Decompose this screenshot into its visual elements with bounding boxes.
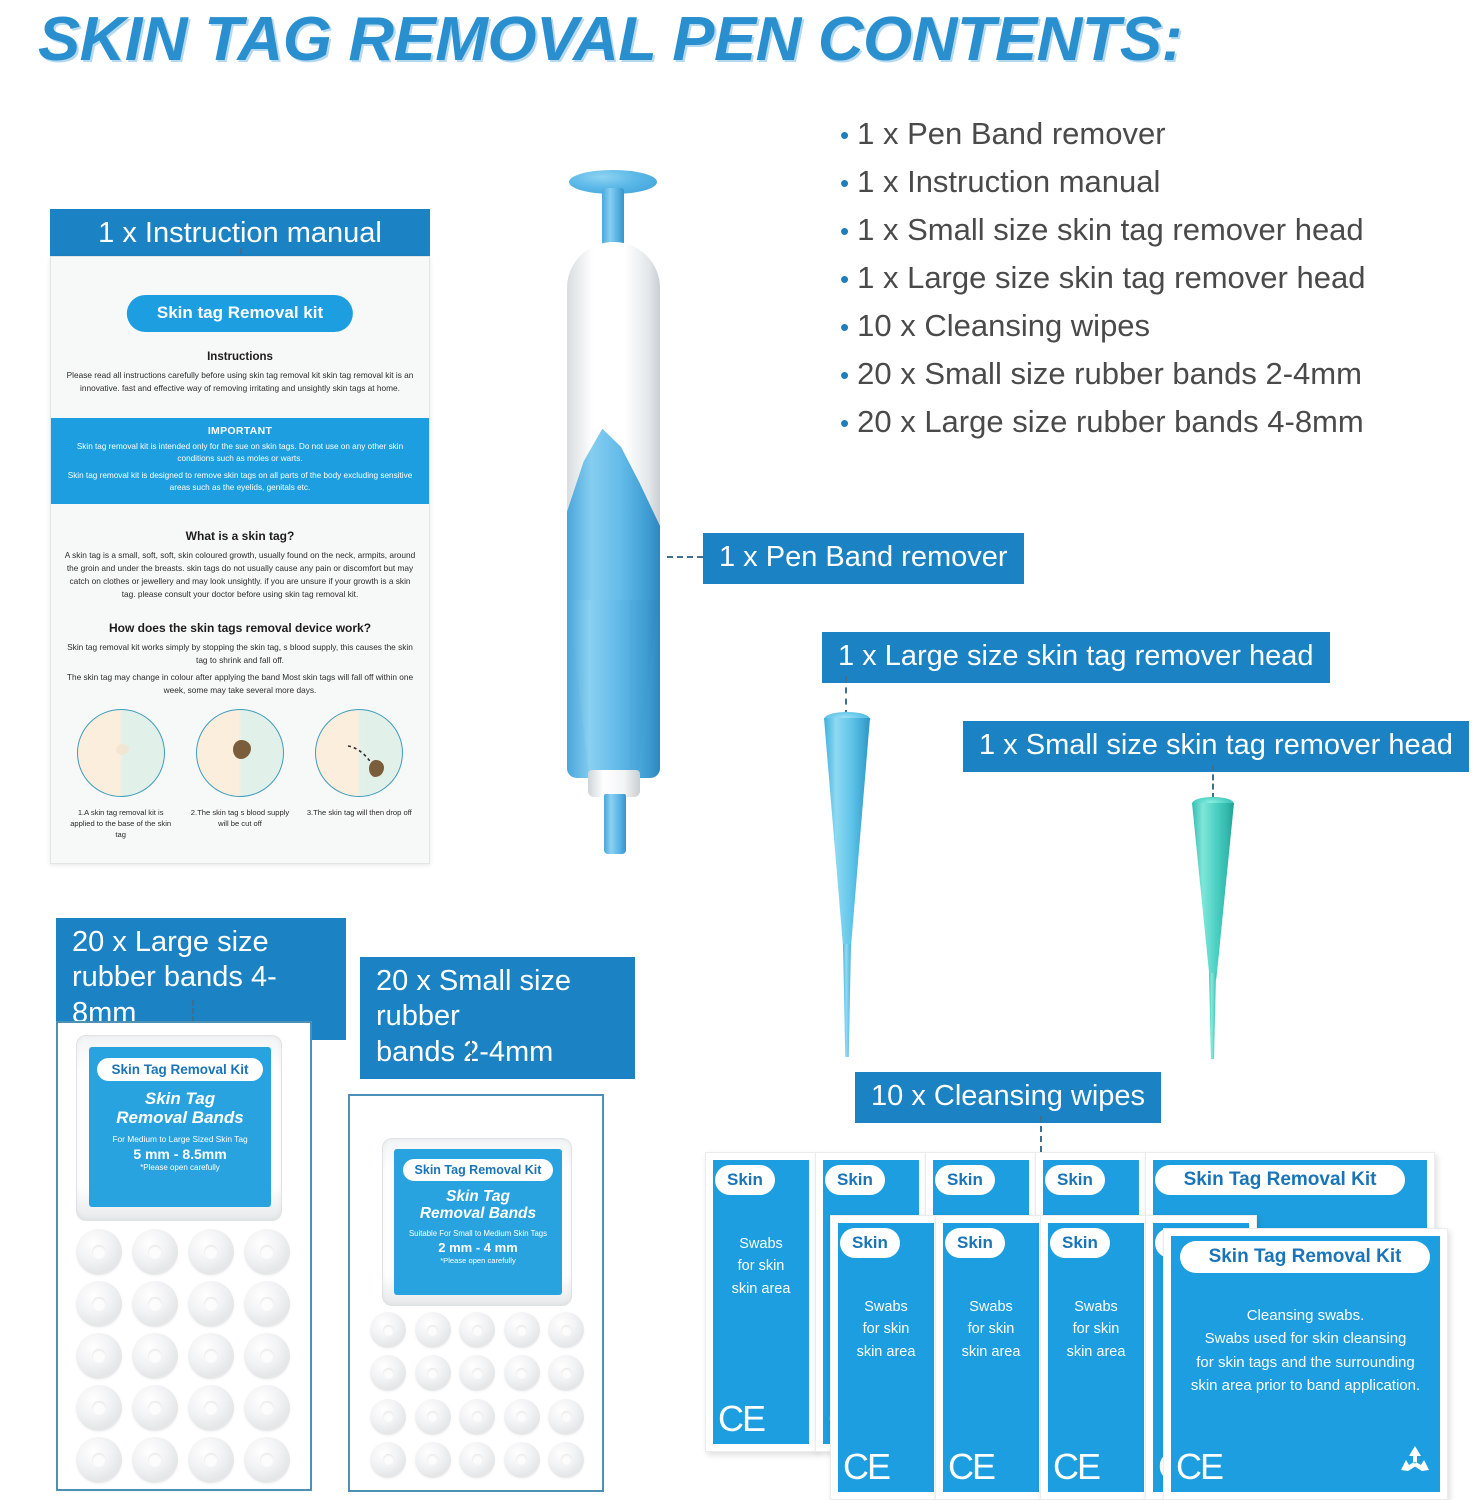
wipe-pill: Skin Tag Removal Kit (1180, 1241, 1430, 1273)
rubber-band-ring (370, 1399, 406, 1435)
wipe-packet: Skin Swabs for skin skin area CE (1040, 1215, 1152, 1500)
step-1: 1.A skin tag removal kit is applied to t… (67, 709, 175, 840)
large-bands-grid (76, 1229, 294, 1481)
leader-line (192, 1000, 194, 1022)
rubber-band-ring (459, 1399, 495, 1435)
rubber-band-hole (561, 1368, 572, 1379)
rubber-band-ring (459, 1355, 495, 1391)
page-title: SKIN TAG REMOVAL PEN CONTENTS: (38, 4, 1182, 75)
large-bands-brand-2: Removal Bands (89, 1108, 271, 1127)
list-item: •20 x Small size rubber bands 2-4mm (840, 358, 1472, 389)
list-item-label: 20 x Large size rubber bands 4-8mm (857, 406, 1364, 437)
manual-what-heading: What is a skin tag? (51, 529, 429, 543)
wipe-text: Swabs for skin skin area (839, 1296, 933, 1363)
wipe-pill: Skin (935, 1165, 995, 1195)
list-item-label: 1 x Instruction manual (857, 166, 1160, 197)
rubber-band-ring (188, 1333, 234, 1379)
rubber-band-hole (516, 1411, 527, 1422)
step-3: 3.The skin tag will then drop off (305, 709, 413, 840)
bullet-dot-icon: • (840, 122, 849, 148)
large-bands-suitability: For Medium to Large Sized Skin Tag (89, 1134, 271, 1144)
wipe-line-1: Cleansing swabs. (1172, 1304, 1439, 1327)
rubber-band-ring (415, 1399, 451, 1435)
small-head-needle (1209, 973, 1216, 1059)
small-head-cone (1192, 803, 1234, 979)
rubber-band-ring (504, 1442, 540, 1478)
rubber-band-hole (516, 1454, 527, 1465)
rubber-band-hole (561, 1411, 572, 1422)
large-bands-brand-1: Skin Tag (89, 1089, 271, 1108)
rubber-band-hole (148, 1401, 162, 1415)
rubber-band-ring (188, 1229, 234, 1275)
wipe-pill: Skin (1045, 1165, 1105, 1195)
rubber-band-ring (188, 1437, 234, 1483)
rubber-band-ring (415, 1442, 451, 1478)
list-item-label: 10 x Cleansing wipes (857, 310, 1150, 341)
rubber-band-ring (504, 1312, 540, 1348)
rubber-band-hole (260, 1245, 274, 1259)
rubber-band-hole (383, 1411, 394, 1422)
rubber-band-hole (92, 1245, 106, 1259)
rubber-band-hole (383, 1325, 394, 1336)
wipe-line-2: for skin (944, 1318, 1038, 1340)
small-bands-suitability: Suitable For Small to Medium Skin Tags (394, 1229, 562, 1238)
small-remover-head (1190, 797, 1236, 1059)
callout-large-remover-head: 1 x Large size skin tag remover head (822, 632, 1330, 683)
rubber-band-hole (472, 1325, 483, 1336)
wipe-line-1: Swabs (714, 1233, 808, 1255)
large-bands-note: *Please open carefully (89, 1163, 271, 1172)
rubber-band-ring (76, 1281, 122, 1327)
list-item-label: 1 x Pen Band remover (857, 118, 1165, 149)
ce-mark-icon: CE (1176, 1449, 1222, 1485)
wipe-line-3: for skin tags and the surrounding (1172, 1351, 1439, 1374)
step-caption: 1.A skin tag removal kit is applied to t… (67, 807, 175, 840)
small-bands-grid (370, 1312, 588, 1480)
skin-tag-dropoff-icon (315, 709, 403, 797)
bullet-dot-icon: • (840, 266, 849, 292)
rubber-band-hole (427, 1454, 438, 1465)
rubber-band-ring (504, 1399, 540, 1435)
manual-important-p2: Skin tag removal kit is designed to remo… (65, 470, 415, 495)
wipe-pill: Skin Tag Removal Kit (1155, 1165, 1405, 1195)
manual-how-p2: The skin tag may change in colour after … (61, 671, 419, 697)
wipe-line-1: Swabs (1049, 1296, 1143, 1318)
list-item: •10 x Cleansing wipes (840, 310, 1472, 341)
rubber-band-ring (504, 1355, 540, 1391)
bullet-dot-icon: • (840, 362, 849, 388)
rubber-band-hole (260, 1297, 274, 1311)
instruction-manual-sheet: Skin tag Removal kit Instructions Please… (50, 256, 430, 864)
rubber-band-hole (204, 1453, 218, 1467)
bullet-dot-icon: • (840, 410, 849, 436)
large-bands-size: 5 mm - 8.5mm (89, 1146, 271, 1162)
dropoff-path-icon (316, 710, 403, 797)
rubber-band-hole (204, 1401, 218, 1415)
wipe-packet: Skin Swabs for skin skin area CE (830, 1215, 942, 1500)
ce-mark-icon: CE (1053, 1449, 1099, 1485)
pen-nozzle (604, 794, 626, 854)
wipe-line-2: Swabs used for skin cleansing (1172, 1327, 1439, 1350)
wipe-line-4: skin area prior to band application. (1172, 1374, 1439, 1397)
ce-mark-icon: CE (843, 1449, 889, 1485)
manual-important-heading: IMPORTANT (65, 425, 415, 437)
pen-plunger-rod (602, 188, 624, 248)
list-item-label: 1 x Small size skin tag remover head (857, 214, 1364, 245)
wipe-line-2: for skin (839, 1318, 933, 1340)
small-bands-brand-1: Skin Tag (394, 1188, 562, 1205)
manual-instructions-heading: Instructions (51, 351, 429, 363)
rubber-band-hole (260, 1349, 274, 1363)
skin-tag-blood-icon (196, 709, 284, 797)
wipe-packet: Skin Swabs for skin skin area CE (935, 1215, 1047, 1500)
leader-line (845, 676, 847, 716)
wipe-text: Swabs for skin skin area (944, 1296, 1038, 1363)
callout-small-rubber-bands: 20 x Small size rubber bands 2-4mm (360, 957, 635, 1079)
wipe-pill: Skin (825, 1165, 885, 1195)
rubber-band-ring (370, 1312, 406, 1348)
rubber-band-hole (148, 1453, 162, 1467)
manual-step-diagrams: 1.A skin tag removal kit is applied to t… (61, 709, 419, 840)
small-bands-note: *Please open carefully (394, 1256, 562, 1265)
wipe-pill: Skin (715, 1165, 775, 1195)
rubber-band-ring (244, 1437, 290, 1483)
small-bands-pill: Skin Tag Removal Kit (403, 1159, 554, 1181)
wipe-line-3: skin area (714, 1278, 808, 1300)
rubber-band-ring (76, 1385, 122, 1431)
contents-bullet-list: •1 x Pen Band remover •1 x Instruction m… (840, 118, 1472, 454)
rubber-band-hole (204, 1297, 218, 1311)
wipe-pill: Skin (945, 1228, 1005, 1258)
rubber-band-hole (92, 1453, 106, 1467)
manual-important-block: IMPORTANT Skin tag removal kit is intend… (51, 418, 429, 504)
rubber-band-ring (244, 1229, 290, 1275)
rubber-band-hole (516, 1325, 527, 1336)
large-remover-head (822, 712, 872, 1057)
leader-line (1212, 765, 1214, 799)
rubber-band-ring (188, 1385, 234, 1431)
manual-how-p1: Skin tag removal kit works simply by sto… (65, 641, 415, 667)
callout-pen-band-remover: 1 x Pen Band remover (703, 533, 1024, 584)
ce-mark-icon: CE (718, 1401, 764, 1437)
small-bands-label: Skin Tag Removal Kit Skin Tag Removal Ba… (394, 1149, 562, 1295)
large-head-needle (843, 944, 851, 1057)
wipe-packet-front: Skin Tag Removal Kit Cleansing swabs. Sw… (1163, 1228, 1448, 1500)
leader-line (470, 1040, 472, 1062)
list-item: •1 x Large size skin tag remover head (840, 262, 1472, 293)
list-item: •20 x Large size rubber bands 4-8mm (840, 406, 1472, 437)
rubber-band-ring (548, 1442, 584, 1478)
small-bands-case: Skin Tag Removal Kit Skin Tag Removal Ba… (348, 1094, 604, 1492)
rubber-band-hole (427, 1325, 438, 1336)
wipe-line-1: Swabs (839, 1296, 933, 1318)
rubber-band-hole (383, 1368, 394, 1379)
rubber-band-hole (92, 1349, 106, 1363)
rubber-band-ring (548, 1312, 584, 1348)
wipe-text: Cleansing swabs. Swabs used for skin cle… (1172, 1304, 1439, 1397)
callout-small-remover-head: 1 x Small size skin tag remover head (963, 721, 1469, 772)
rubber-band-ring (132, 1333, 178, 1379)
rubber-band-hole (561, 1454, 572, 1465)
manual-what-body: A skin tag is a small, soft, soft, skin … (63, 549, 417, 601)
rubber-band-hole (472, 1411, 483, 1422)
rubber-band-hole (204, 1349, 218, 1363)
wipe-pill: Skin (840, 1228, 900, 1258)
large-bands-pill: Skin Tag Removal Kit (97, 1058, 262, 1081)
rubber-band-ring (132, 1281, 178, 1327)
step-caption: 3.The skin tag will then drop off (305, 807, 413, 818)
wipe-line-2: for skin (1049, 1318, 1143, 1340)
rubber-band-ring (244, 1281, 290, 1327)
rubber-band-ring (76, 1437, 122, 1483)
wipe-text: Swabs for skin skin area (714, 1233, 808, 1300)
rubber-band-ring (415, 1312, 451, 1348)
manual-instructions-body: Please read all instructions carefully b… (65, 369, 415, 395)
bullet-dot-icon: • (840, 170, 849, 196)
skin-diagram-icon (77, 709, 165, 797)
rubber-band-ring (244, 1385, 290, 1431)
rubber-band-hole (148, 1245, 162, 1259)
pen-white-collar (588, 770, 640, 797)
wipe-packet: Skin Swabs for skin skin area CE (705, 1152, 817, 1452)
small-bands-brand-2: Removal Bands (394, 1205, 562, 1222)
bullet-dot-icon: • (840, 314, 849, 340)
small-bands-size: 2 mm - 4 mm (394, 1240, 562, 1255)
recycle-icon (1397, 1444, 1433, 1483)
wipe-line-3: skin area (944, 1341, 1038, 1363)
rubber-band-hole (561, 1325, 572, 1336)
rubber-band-ring (132, 1385, 178, 1431)
rubber-band-ring (370, 1442, 406, 1478)
callout-cleansing-wipes: 10 x Cleansing wipes (855, 1072, 1161, 1123)
step-2: 2.The skin tag s blood supply will be cu… (186, 709, 294, 840)
rubber-band-hole (383, 1454, 394, 1465)
infographic-canvas: SKIN TAG REMOVAL PEN CONTENTS: •1 x Pen … (0, 0, 1472, 1500)
rubber-band-ring (548, 1399, 584, 1435)
list-item-label: 20 x Small size rubber bands 2-4mm (857, 358, 1362, 389)
rubber-band-hole (92, 1297, 106, 1311)
large-bands-case: Skin Tag Removal Kit Skin Tag Removal Ba… (56, 1021, 312, 1491)
rubber-band-ring (415, 1355, 451, 1391)
manual-title-pill: Skin tag Removal kit (127, 295, 353, 332)
rubber-band-hole (472, 1454, 483, 1465)
list-item: •1 x Instruction manual (840, 166, 1472, 197)
rubber-band-hole (260, 1401, 274, 1415)
rubber-band-ring (188, 1281, 234, 1327)
rubber-band-hole (427, 1411, 438, 1422)
pen-band-remover-device (548, 170, 678, 860)
rubber-band-hole (472, 1368, 483, 1379)
rubber-band-ring (76, 1229, 122, 1275)
rubber-band-hole (427, 1368, 438, 1379)
leader-line (667, 556, 703, 558)
bullet-dot-icon: • (840, 218, 849, 244)
rubber-band-ring (459, 1442, 495, 1478)
small-bands-box: Skin Tag Removal Kit Skin Tag Removal Ba… (382, 1138, 572, 1306)
rubber-band-hole (516, 1368, 527, 1379)
rubber-band-ring (459, 1312, 495, 1348)
rubber-band-hole (92, 1401, 106, 1415)
large-bands-label: Skin Tag Removal Kit Skin Tag Removal Ba… (89, 1047, 271, 1207)
list-item: •1 x Small size skin tag remover head (840, 214, 1472, 245)
rubber-band-ring (548, 1355, 584, 1391)
rubber-band-ring (370, 1355, 406, 1391)
list-item-label: 1 x Large size skin tag remover head (857, 262, 1365, 293)
wipe-text: Swabs for skin skin area (1049, 1296, 1143, 1363)
leader-line (1040, 1116, 1042, 1152)
wipe-line-2: for skin (714, 1255, 808, 1277)
rubber-band-ring (244, 1333, 290, 1379)
manual-important-p1: Skin tag removal kit is intended only fo… (65, 441, 415, 466)
wipe-line-3: skin area (839, 1341, 933, 1363)
large-bands-box: Skin Tag Removal Kit Skin Tag Removal Ba… (76, 1035, 282, 1221)
rubber-band-hole (204, 1245, 218, 1259)
list-item: •1 x Pen Band remover (840, 118, 1472, 149)
ce-mark-icon: CE (948, 1449, 994, 1485)
rubber-band-ring (76, 1333, 122, 1379)
wipe-pill: Skin (1050, 1228, 1110, 1258)
wipe-line-3: skin area (1049, 1341, 1143, 1363)
rubber-band-hole (148, 1349, 162, 1363)
step-caption: 2.The skin tag s blood supply will be cu… (186, 807, 294, 829)
manual-how-heading: How does the skin tags removal device wo… (51, 621, 429, 635)
rubber-band-hole (260, 1453, 274, 1467)
rubber-band-ring (132, 1229, 178, 1275)
wipe-line-1: Swabs (944, 1296, 1038, 1318)
rubber-band-ring (132, 1437, 178, 1483)
large-head-cone (824, 718, 870, 950)
rubber-band-hole (148, 1297, 162, 1311)
